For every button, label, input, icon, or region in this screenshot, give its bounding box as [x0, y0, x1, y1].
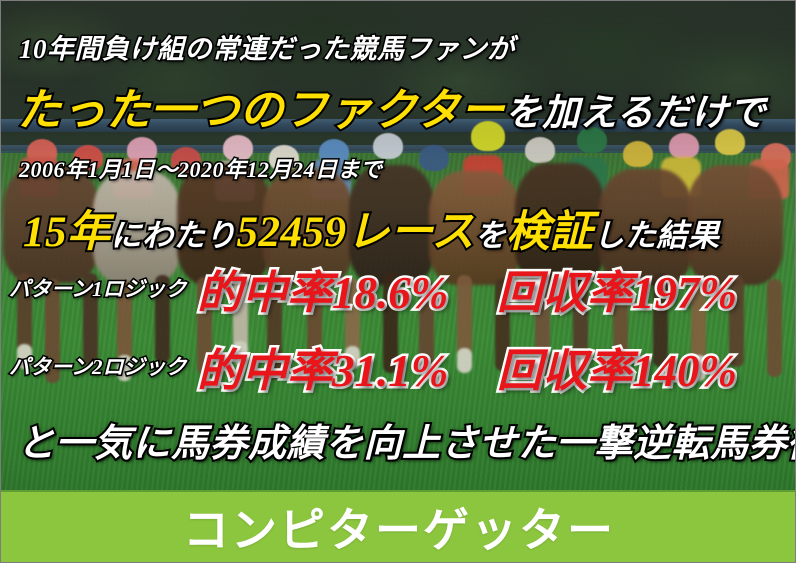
stat-hit-rate: 的中率18.6% [197, 256, 497, 321]
stat-recovery-rate: 回収率140% [497, 334, 737, 399]
headline-factor-highlight: たった一つのファクター [17, 86, 505, 135]
verify-years-suffix: にわたり [111, 218, 237, 253]
ad-copy-layer: 10年間負け組の常連だった競馬ファンが たった一つのファクターを加えるだけで 2… [1, 1, 795, 562]
stat-recovery-rate: 回収率197% [497, 256, 737, 321]
stat-row: パターン1ロジック 的中率18.6% 回収率197% [1, 257, 796, 319]
headline-factor: たった一つのファクターを加えるだけで [17, 74, 766, 138]
headline-hook: 10年間負け組の常連だった競馬ファンが [19, 27, 515, 66]
stat-hit-rate: 的中率31.1% [197, 334, 497, 399]
stat-row: パターン2ロジック 的中率31.1% 回収率140% [1, 335, 796, 397]
horse-racing-ad-banner: 10年間負け組の常連だった競馬ファンが たった一つのファクターを加えるだけで 2… [0, 0, 796, 563]
verify-race-count: 52459レース [237, 209, 475, 256]
stat-pattern-label: パターン2ロジック [1, 351, 197, 381]
product-title: コンピターゲッター [183, 494, 615, 560]
verify-result-suffix: した結果 [593, 218, 719, 253]
verification-summary: 15年にわたり52459レースを検証した結果 [23, 197, 719, 259]
closing-headline: と一気に馬券成績を向上させた一撃逆転馬券術 [17, 412, 796, 467]
product-name-bar: コンピターゲッター [1, 490, 796, 562]
verify-word: 検証 [506, 209, 593, 256]
stat-pattern-label: パターン1ロジック [1, 273, 197, 303]
verification-period: 2006年1月1日～2020年12月24日まで [19, 152, 383, 184]
headline-factor-rest: を加えるだけで [505, 93, 766, 134]
verify-particle: を [475, 218, 507, 253]
verify-years: 15年 [23, 209, 111, 256]
